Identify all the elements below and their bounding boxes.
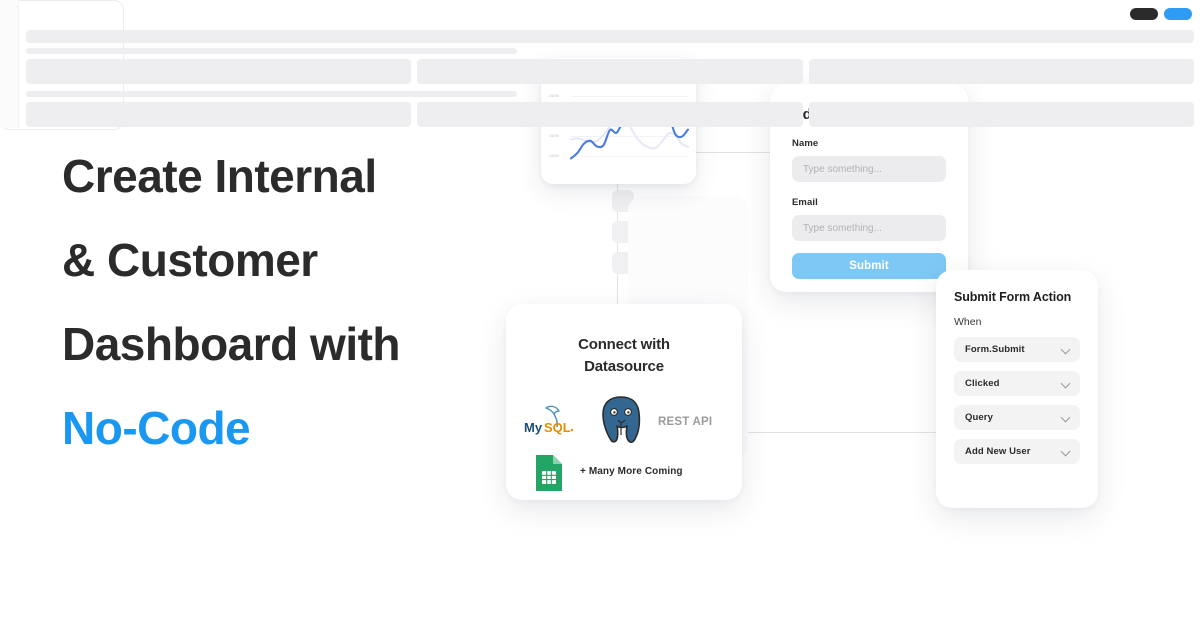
datasource-logo-row: My SQL REST API <box>506 394 742 454</box>
mockup-collage: Signed Up Users / Day March 2022 250M 20… <box>0 0 1200 628</box>
postgresql-logo[interactable] <box>598 394 644 451</box>
skeleton-bar <box>26 48 124 54</box>
email-input-placeholder: Type something... <box>803 223 882 234</box>
datasource-card: Connect with Datasource My SQL <box>506 304 742 500</box>
skeleton-row <box>26 102 124 127</box>
submit-form-action-title: Submit Form Action <box>954 290 1080 304</box>
trigger-select[interactable]: Clicked <box>954 371 1080 396</box>
connector-horizontal-bottom <box>735 432 950 433</box>
skeleton-bar <box>26 30 124 43</box>
skeleton-row <box>26 59 124 84</box>
datasource-title-line-1: Connect with <box>506 334 742 356</box>
skeleton-cell <box>26 102 124 127</box>
chevron-down-icon <box>1062 346 1070 354</box>
event-select-value: Form.Submit <box>965 344 1025 355</box>
table-skeleton-card <box>0 0 124 130</box>
skeleton-bar <box>26 91 124 97</box>
event-select[interactable]: Form.Submit <box>954 337 1080 362</box>
submit-button[interactable]: Submit <box>792 253 946 279</box>
google-sheets-logo[interactable] <box>534 454 564 497</box>
trigger-select-value: Clicked <box>965 378 1000 389</box>
action-type-select-value: Query <box>965 412 993 423</box>
skeleton-cell <box>26 59 124 84</box>
email-field-label: Email <box>792 197 946 208</box>
svg-text:My: My <box>524 420 543 435</box>
name-field-label: Name <box>792 138 946 149</box>
datasource-title: Connect with Datasource <box>506 334 742 378</box>
skeleton-sidebar <box>0 0 19 128</box>
submit-form-action-card: Submit Form Action When Form.Submit Clic… <box>936 270 1098 508</box>
chevron-down-icon <box>1062 380 1070 388</box>
chevron-down-icon <box>1062 448 1070 456</box>
when-label: When <box>954 316 1080 328</box>
query-select-value: Add New User <box>965 446 1031 457</box>
name-input-placeholder: Type something... <box>803 164 882 175</box>
email-input[interactable]: Type something... <box>792 215 946 241</box>
mysql-logo[interactable]: My SQL <box>524 402 586 447</box>
more-datasources-label: + Many More Coming <box>580 466 683 477</box>
datasource-more-row: + Many More Coming <box>506 454 742 498</box>
rest-api-label[interactable]: REST API <box>658 416 712 428</box>
svg-text:SQL: SQL <box>544 420 571 435</box>
chevron-down-icon <box>1062 414 1070 422</box>
query-select[interactable]: Add New User <box>954 439 1080 464</box>
skeleton-body <box>26 30 124 130</box>
action-type-select[interactable]: Query <box>954 405 1080 430</box>
datasource-title-line-2: Datasource <box>506 356 742 378</box>
name-input[interactable]: Type something... <box>792 156 946 182</box>
